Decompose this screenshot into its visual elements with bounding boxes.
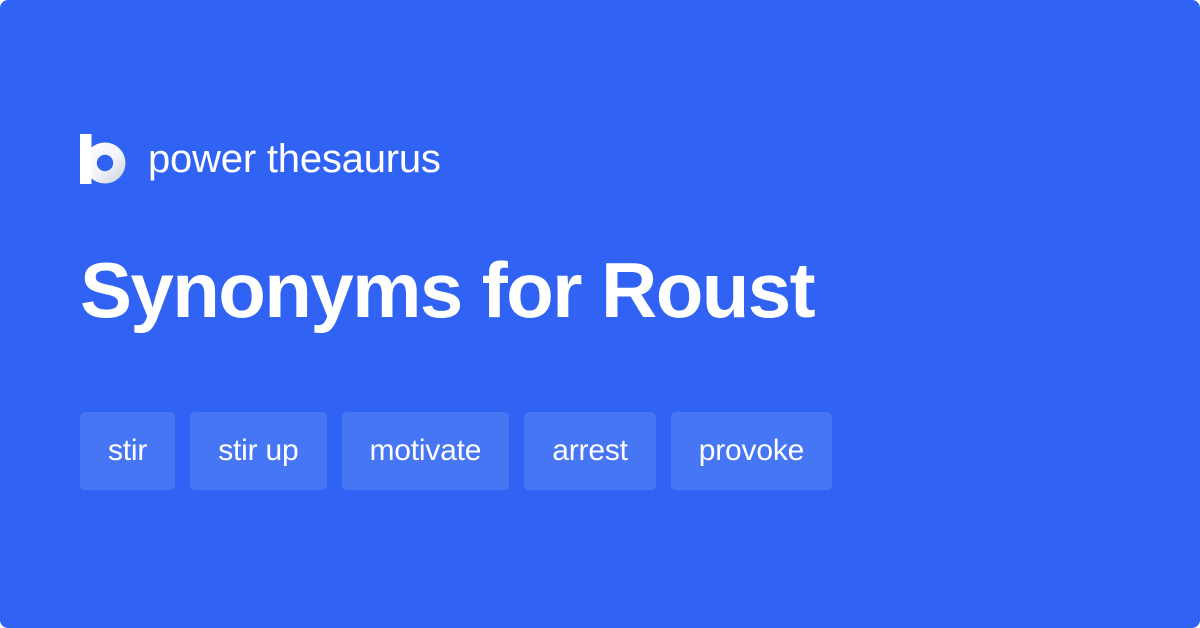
synonym-chip[interactable]: motivate [342,412,510,490]
synonym-chip-list: stir stir up motivate arrest provoke [80,412,832,490]
synonym-chip[interactable]: stir [80,412,175,490]
brand-name: power thesaurus [148,139,441,179]
brand-lockup[interactable]: power thesaurus [80,128,441,190]
synonym-chip[interactable]: stir up [190,412,326,490]
synonym-chip[interactable]: provoke [671,412,832,490]
share-card: power thesaurus Synonyms for Roust stir … [0,0,1200,628]
synonym-chip[interactable]: arrest [524,412,656,490]
page-title: Synonyms for Roust [80,248,814,334]
power-thesaurus-logo-icon [80,134,126,184]
